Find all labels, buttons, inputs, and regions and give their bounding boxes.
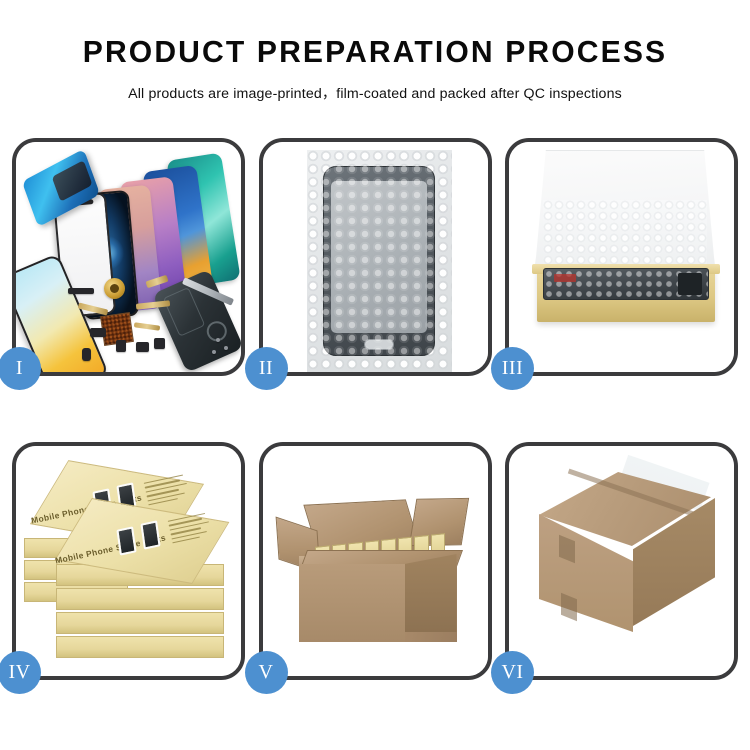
process-step-2: II xyxy=(259,138,492,376)
step-4-image: Mobile Phone Spare Parts Mobile Phone Sp… xyxy=(16,446,241,676)
bubble-wrap-sheet xyxy=(307,150,452,372)
connector-part-1 xyxy=(68,288,94,294)
carton-side-face xyxy=(405,554,457,632)
step-badge-1: I xyxy=(0,347,41,390)
sealed-carton xyxy=(529,472,725,652)
connector-part-4 xyxy=(136,342,149,352)
bubble-wrap-overlay xyxy=(307,150,452,372)
screw-2 xyxy=(224,346,228,350)
header: PRODUCT PREPARATION PROCESS All products… xyxy=(0,0,750,103)
connector-part-2 xyxy=(90,328,106,337)
foam-padding xyxy=(543,200,707,272)
process-step-1: I xyxy=(12,138,245,376)
page-title: PRODUCT PREPARATION PROCESS xyxy=(11,34,739,70)
step-badge-2: II xyxy=(245,347,288,390)
page-subtitle: All products are image-printed，film-coat… xyxy=(0,83,750,103)
retail-box-slab-7 xyxy=(56,636,224,658)
retail-box-slab-5 xyxy=(56,588,224,610)
retail-box-stack: Mobile Phone Spare Parts Mobile Phone Sp… xyxy=(18,452,241,672)
step-badge-3: III xyxy=(491,347,534,390)
box-print-phone-front-2 xyxy=(140,520,160,549)
packed-screen-in-box xyxy=(543,268,709,300)
process-step-3: III xyxy=(505,138,738,376)
screw-1 xyxy=(216,338,220,342)
step-badge-4: IV xyxy=(0,651,41,694)
box-print-phone-front-1 xyxy=(116,526,136,555)
process-step-grid: I II III xyxy=(12,138,738,686)
step-badge-5: V xyxy=(245,651,288,694)
step-1-image xyxy=(16,142,241,372)
connector-part-3 xyxy=(116,340,126,352)
speaker-coil-part xyxy=(104,278,125,299)
retail-box-slab-6 xyxy=(56,612,224,634)
step-badge-6: VI xyxy=(491,651,534,694)
screw-3 xyxy=(212,350,216,354)
connector-part-6 xyxy=(154,338,165,349)
step-3-image xyxy=(509,142,734,372)
product-preparation-infographic: PRODUCT PREPARATION PROCESS All products… xyxy=(0,0,750,750)
step-2-image xyxy=(263,142,488,372)
connector-part-5 xyxy=(82,348,91,361)
process-step-4: Mobile Phone Spare Parts Mobile Phone Sp… xyxy=(12,442,245,680)
carton-front-face xyxy=(299,564,405,642)
step-6-image xyxy=(509,446,734,676)
process-step-6: VI xyxy=(505,442,738,680)
process-step-5: V xyxy=(259,442,492,680)
step-5-image xyxy=(263,446,488,676)
